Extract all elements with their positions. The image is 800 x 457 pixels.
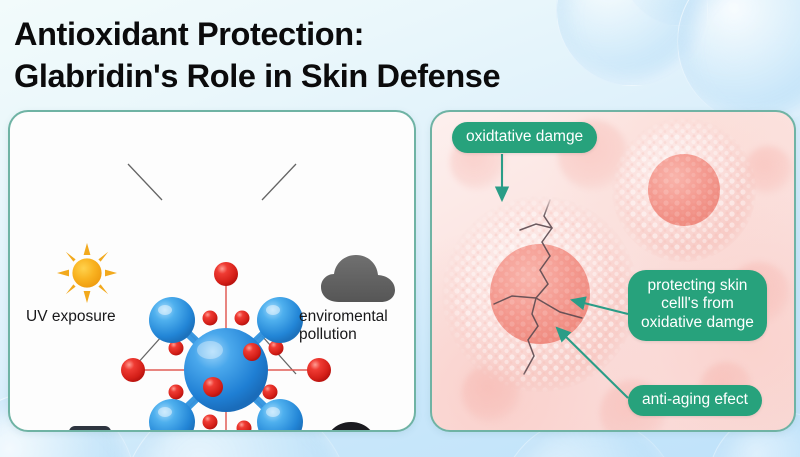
background-bubble [677, 0, 800, 125]
damaged-cell [442, 196, 638, 392]
callout-anti-aging-effect[interactable]: anti-aging efect [628, 385, 762, 416]
infographic-canvas: Antioxidant Protection: Glabridin's Role… [0, 0, 800, 457]
callout-oxidative-damage[interactable]: oxidtative damge [452, 122, 597, 153]
skin-stressors-panel: UV exposure enviromental pollution blue … [8, 110, 416, 432]
title-line-1: Antioxidant Protection: [14, 14, 634, 56]
callout-protecting-cells[interactable]: protecting skin celll's from oxidative d… [628, 270, 767, 341]
healthy-cell [612, 118, 756, 262]
smartphone-icon [68, 425, 112, 432]
stressor-label-environmental-pollution: enviromental pollution [299, 308, 388, 345]
page-title: Antioxidant Protection: Glabridin's Role… [14, 14, 634, 97]
stressor-label-uv-exposure: UV exposure [26, 308, 116, 326]
sun-icon [56, 242, 118, 304]
title-line-2: Glabridin's Role in Skin Defense [14, 56, 634, 98]
